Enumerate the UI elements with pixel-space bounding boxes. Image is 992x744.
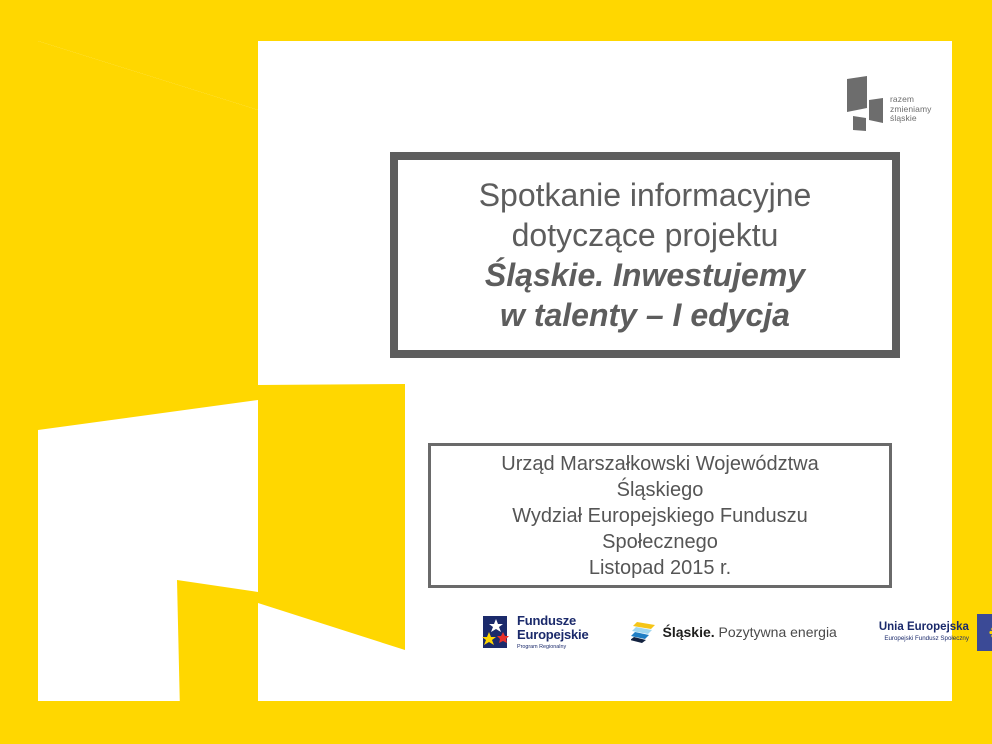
footer-logo-strip: Fundusze Europejskie Program Regionalny …: [480, 606, 950, 658]
unia-europejska-text: Unia Europejska Europejski Fundusz Społe…: [879, 621, 969, 643]
title-box: Spotkanie informacyjne dotyczące projekt…: [390, 152, 900, 358]
subtitle-line-4: Społecznego: [602, 529, 718, 555]
slaskie-rest-text: Pozytywna energia: [715, 624, 837, 640]
ue-line-1: Unia Europejska: [879, 621, 969, 634]
ue-line-2: Europejski Fundusz Społeczny: [879, 634, 969, 643]
fundusze-europejskie-logo: Fundusze Europejskie Program Regionalny: [480, 614, 589, 651]
slaskie-pozytywna-energia-logo: Śląskie. Pozytywna energia: [631, 620, 837, 644]
title-line-2: dotyczące projektu: [512, 215, 779, 255]
fe-line-3: Program Regionalny: [517, 643, 589, 651]
brandmark-line-3: śląskie: [890, 114, 932, 124]
slaskie-ribbon-icon: [631, 620, 657, 644]
brandmark-glyph-icon: [843, 74, 885, 132]
title-line-3: Śląskie. Inwestujemy: [485, 255, 805, 295]
subtitle-line-5: Listopad 2015 r.: [589, 555, 731, 581]
fe-line-2: Europejskie: [517, 628, 589, 642]
subtitle-line-3: Wydział Europejskiego Funduszu: [512, 503, 808, 529]
razem-zmieniamy-slaskie-logo: razem zmieniamy śląskie: [843, 74, 947, 134]
fe-line-1: Fundusze: [517, 614, 589, 628]
subtitle-box: Urząd Marszałkowski Województwa Śląskieg…: [428, 443, 892, 588]
subtitle-line-2: Śląskiego: [617, 477, 704, 503]
unia-europejska-logo: Unia Europejska Europejski Fundusz Społe…: [879, 614, 992, 651]
presentation-slide: razem zmieniamy śląskie Spotkanie inform…: [0, 0, 992, 744]
eu-flag-icon: [977, 614, 992, 651]
subtitle-line-1: Urząd Marszałkowski Województwa: [501, 451, 819, 477]
slide-canvas: [38, 41, 952, 701]
slaskie-bold-text: Śląskie.: [663, 624, 715, 640]
fundusze-europejskie-text: Fundusze Europejskie Program Regionalny: [517, 614, 589, 651]
title-line-1: Spotkanie informacyjne: [479, 175, 812, 215]
fundusze-europejskie-emblem-icon: [480, 615, 510, 649]
title-line-4: w talenty – I edycja: [500, 295, 790, 335]
slaskie-text: Śląskie. Pozytywna energia: [663, 624, 837, 640]
brandmark-text: razem zmieniamy śląskie: [890, 95, 932, 124]
